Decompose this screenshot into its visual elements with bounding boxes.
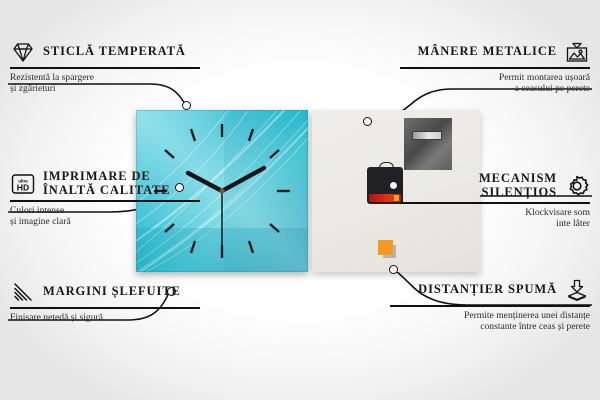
- feature-tempered-glass: STICLĂ TEMPERATĂ Rezistentă la spargere …: [10, 40, 200, 94]
- clock-mechanism: [367, 167, 403, 204]
- feature-title: DISTANȚIER SPUMĂ: [418, 283, 557, 297]
- feature-subtitle: Klockvisare som inte låter: [400, 207, 590, 229]
- connector-dot-tempered-glass: [182, 101, 191, 110]
- hanger-slot: [412, 131, 442, 140]
- battery: [369, 194, 401, 202]
- infographic-canvas: STICLĂ TEMPERATĂ Rezistentă la spargere …: [0, 0, 600, 400]
- metal-hanger-plate: [404, 118, 452, 170]
- feature-heading: MÂNERE METALICE: [400, 40, 590, 64]
- divider: [10, 307, 200, 309]
- feature-metal-handles: MÂNERE METALICE Permit montarea ușoară a…: [400, 40, 590, 94]
- feature-subtitle: Permite menținerea unei distanțe constan…: [390, 310, 590, 332]
- svg-text:HD: HD: [17, 182, 29, 192]
- connector-dot-mechanism: [389, 181, 398, 190]
- connector-dot-spacer: [389, 265, 398, 274]
- divider: [10, 200, 200, 202]
- down-arrow-pad-icon: [564, 278, 590, 302]
- diamond-icon: [10, 40, 36, 64]
- feature-subtitle: Rezistentă la spargere și zgârieturi: [10, 72, 200, 94]
- polished-edges-icon: [10, 280, 36, 304]
- divider: [390, 305, 590, 307]
- battery-terminal: [394, 195, 399, 201]
- ultra-hd-icon: ultra HD: [10, 172, 36, 196]
- feature-subtitle: Culori intense și imagine clară: [10, 205, 200, 227]
- feature-heading: DISTANȚIER SPUMĂ: [390, 278, 590, 302]
- foam-spacer: [378, 240, 393, 255]
- feature-title: STICLĂ TEMPERATĂ: [43, 45, 186, 59]
- feature-polished-edges: MARGINI ȘLEFUITE Finisare netedă și sigu…: [10, 280, 200, 323]
- feature-heading: STICLĂ TEMPERATĂ: [10, 40, 200, 64]
- feature-title: IMPRIMARE DE ÎNALTĂ CALITATE: [43, 170, 200, 197]
- feature-heading: MECANISM SILENȚIOS: [400, 172, 590, 199]
- feature-title: MECANISM SILENȚIOS: [400, 172, 557, 199]
- mechanism-hook: [379, 162, 394, 171]
- gear-icon: [564, 174, 590, 198]
- feature-high-quality-print: ultra HD IMPRIMARE DE ÎNALTĂ CALITATE Cu…: [10, 170, 200, 227]
- divider: [10, 67, 200, 69]
- picture-hanger-icon: [564, 40, 590, 64]
- feature-foam-spacer: DISTANȚIER SPUMĂ Permite menținerea unei…: [390, 278, 590, 332]
- feature-silent-mechanism: MECANISM SILENȚIOS Klockvisare som inte …: [400, 172, 590, 229]
- divider: [400, 202, 590, 204]
- divider: [400, 67, 590, 69]
- feature-subtitle: Finisare netedă și sigură: [10, 312, 200, 323]
- feature-title: MÂNERE METALICE: [418, 45, 557, 59]
- feature-title: MARGINI ȘLEFUITE: [43, 285, 181, 299]
- connector-dot-handles: [363, 117, 372, 126]
- feature-subtitle: Permit montarea ușoară a ceasului pe per…: [400, 72, 590, 94]
- feature-heading: MARGINI ȘLEFUITE: [10, 280, 200, 304]
- feature-heading: ultra HD IMPRIMARE DE ÎNALTĂ CALITATE: [10, 170, 200, 197]
